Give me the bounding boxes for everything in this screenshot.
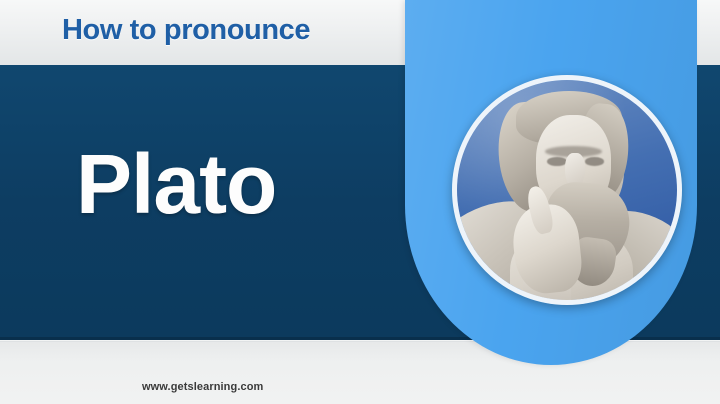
website-url: www.getslearning.com <box>142 381 263 393</box>
portrait-medallion <box>452 75 682 305</box>
pronunciation-slide: How to pronounce Plato www.getslearning.… <box>0 0 720 404</box>
statue-eye-right <box>585 157 605 166</box>
philosopher-statue-photo <box>457 80 677 300</box>
statue-figure <box>457 80 677 300</box>
page-title: How to pronounce <box>62 14 310 47</box>
pronunciation-word: Plato <box>76 142 276 226</box>
statue-eye-left <box>547 157 567 166</box>
